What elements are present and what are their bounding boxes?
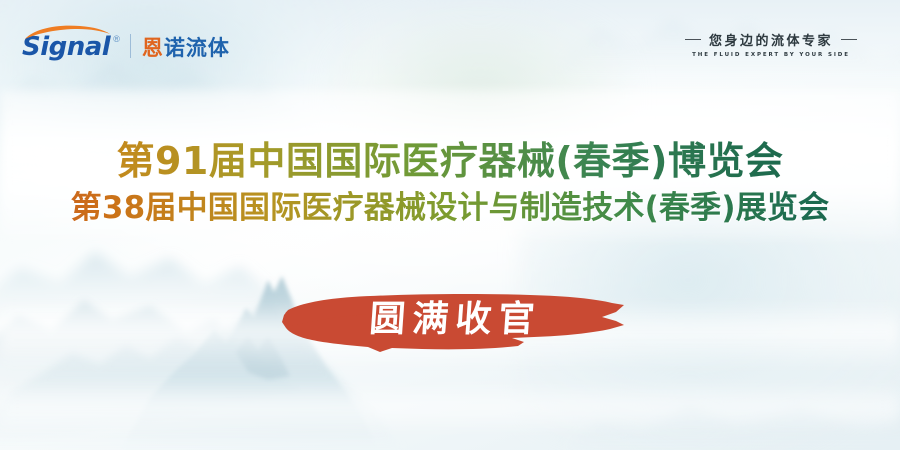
page-title: 第91届中国国际医疗器械(春季)博览会 xyxy=(0,140,900,183)
logo-signal-wordmark: Signal® xyxy=(22,28,120,60)
logo-brand-cn-first-char: 恩 xyxy=(142,36,164,60)
mist-overlay-bottom xyxy=(0,382,900,430)
page-subtitle: 第38届中国国际医疗器械设计与制造技术(春季)展览会 xyxy=(0,191,900,226)
company-logo[interactable]: Signal® 恩诺流体 xyxy=(22,24,230,64)
tagline-dash-left-icon xyxy=(685,39,701,40)
banner-label: 圆满收官 xyxy=(270,298,633,341)
tagline-english-text: THE FLUID EXPERT BY YOUR SIDE xyxy=(666,52,876,58)
tagline-dash-right-icon xyxy=(841,39,857,40)
company-tagline: 您身边的流体专家 THE FLUID EXPERT BY YOUR SIDE xyxy=(666,30,876,58)
tagline-chinese-row: 您身边的流体专家 xyxy=(666,30,876,49)
logo-divider xyxy=(130,34,131,58)
exhibition-poster: Signal® 恩诺流体 您身边的流体专家 THE FLUID EXPERT B… xyxy=(0,0,900,450)
orange-swoosh-icon xyxy=(24,25,112,41)
logo-brand-cn: 恩诺流体 xyxy=(142,32,230,62)
registered-trademark-icon: ® xyxy=(113,34,120,44)
logo-brand-cn-rest: 诺流体 xyxy=(164,36,230,60)
tagline-chinese-text: 您身边的流体专家 xyxy=(709,30,833,49)
poster-titles: 第91届中国国际医疗器械(春季)博览会 第38届中国国际医疗器械设计与制造技术(… xyxy=(0,140,900,225)
poster-header: Signal® 恩诺流体 您身边的流体专家 THE FLUID EXPERT B… xyxy=(0,0,900,92)
status-badge: 圆满收官 xyxy=(272,286,632,358)
